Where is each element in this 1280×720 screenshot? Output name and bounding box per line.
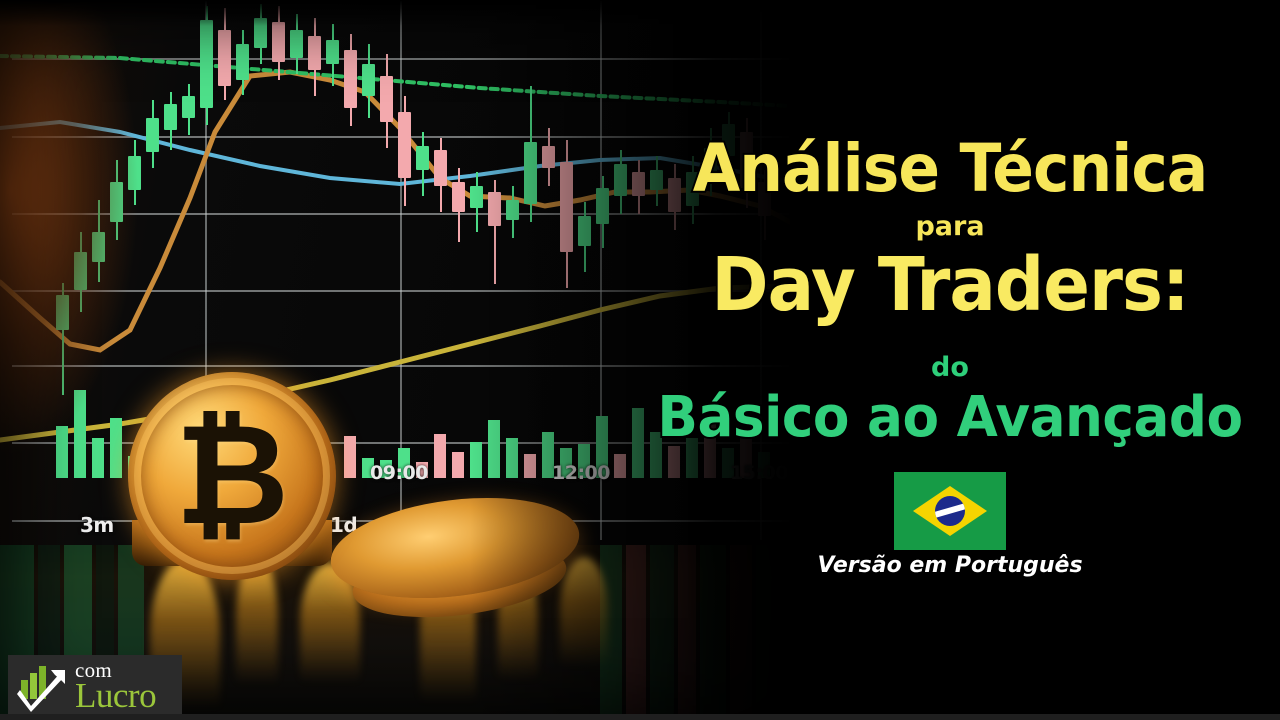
candle-body: [578, 216, 591, 246]
candle-body: [434, 150, 447, 186]
volume-bar: [56, 426, 68, 478]
candle-body: [596, 188, 609, 224]
gold-reflection: [560, 557, 608, 667]
candle-body: [272, 22, 285, 62]
logo-wordmark: com Lucro: [75, 660, 156, 713]
title-line-2: Day Traders:: [643, 248, 1257, 322]
toolbar-label[interactable]: 3m: [80, 513, 114, 537]
candlestick: [290, 14, 303, 74]
brazil-flag-icon: [894, 472, 1006, 550]
title-line-1: Análise Técnica: [643, 136, 1257, 202]
volume-bar: [110, 418, 122, 478]
candle-body: [488, 192, 501, 226]
flag-band: [935, 501, 965, 519]
volume-bar: [506, 438, 518, 478]
candle-body: [308, 36, 321, 70]
candle-body: [344, 50, 357, 108]
candlestick: [506, 186, 519, 238]
candlestick: [200, 6, 213, 125]
bar-chart-check-arrow-icon: [17, 662, 73, 712]
candle-body: [398, 112, 411, 178]
candle-body: [470, 186, 483, 208]
candle-body: [128, 156, 141, 190]
volume-bar: [74, 390, 86, 478]
volume-bar: [344, 436, 356, 478]
candlestick: [452, 168, 465, 242]
candlestick: [254, 4, 267, 64]
candlestick: [74, 232, 87, 312]
time-axis-label: 09:00: [370, 462, 428, 484]
candlestick: [326, 24, 339, 86]
candle-body: [290, 30, 303, 58]
logo-word-lucro: Lucro: [75, 678, 156, 713]
candlestick: [488, 180, 501, 284]
candlestick: [110, 160, 123, 240]
candle-body: [92, 232, 105, 262]
candlestick: [182, 84, 195, 135]
candlestick: [560, 140, 573, 288]
language-caption: Versão em Português: [620, 553, 1280, 578]
candlestick: [92, 200, 105, 282]
volume-bar: [524, 454, 536, 478]
candle-body: [182, 96, 195, 118]
volume-bar: [92, 438, 104, 478]
candle-body: [506, 200, 519, 220]
title-connector-para: para: [620, 211, 1280, 242]
candle-body: [416, 146, 429, 170]
candle-body: [524, 142, 537, 204]
candle-body: [380, 76, 393, 122]
candlestick: [578, 202, 591, 272]
brand-logo[interactable]: com Lucro: [8, 655, 182, 718]
candlestick: [128, 140, 141, 205]
candle-body: [362, 64, 375, 96]
candle-body: [200, 20, 213, 108]
candlestick: [272, 6, 285, 80]
candlestick: [470, 172, 483, 232]
candle-body: [164, 104, 177, 130]
candle-body: [326, 40, 339, 64]
candlestick: [308, 18, 321, 96]
candle-body: [542, 146, 555, 168]
volume-bar: [470, 442, 482, 478]
candle-body: [452, 182, 465, 212]
candle-body: [218, 30, 231, 86]
candlestick: [434, 138, 447, 212]
candlestick: [380, 54, 393, 148]
volume-bar: [488, 420, 500, 478]
candlestick: [596, 176, 609, 248]
candlestick: [542, 128, 555, 186]
bitcoin-coin-icon: ₿: [128, 372, 336, 580]
bottom-bar: [0, 714, 1280, 720]
candle-body: [236, 44, 249, 80]
candlestick: [164, 92, 177, 150]
candlestick: [524, 86, 537, 222]
time-axis-label: 12:00: [552, 462, 610, 484]
bitcoin-symbol: ₿: [128, 372, 336, 580]
volume-bar: [434, 434, 446, 478]
candlestick: [398, 96, 411, 206]
candlestick: [218, 8, 231, 100]
title-text-block: Análise Técnica para Day Traders: do Bás…: [620, 0, 1280, 720]
candle-body: [110, 182, 123, 222]
candle-body: [146, 118, 159, 152]
candlestick: [146, 100, 159, 168]
flag-globe: [935, 496, 965, 526]
candlestick: [344, 34, 357, 126]
candle-body: [560, 162, 573, 252]
candlestick: [362, 44, 375, 118]
title-connector-do: do: [620, 352, 1280, 383]
candle-body: [56, 295, 69, 330]
brazil-flag-wrapper: [620, 472, 1280, 550]
thumbnail-canvas: 09:0012:0015:00 3m1dGo to... ₿ Análise T…: [0, 0, 1280, 720]
title-line-3: Básico ao Avançado: [637, 390, 1264, 446]
candlestick: [236, 30, 249, 95]
candle-body: [254, 18, 267, 48]
candlestick: [416, 132, 429, 196]
candle-body: [74, 252, 87, 290]
volume-bar: [452, 452, 464, 478]
